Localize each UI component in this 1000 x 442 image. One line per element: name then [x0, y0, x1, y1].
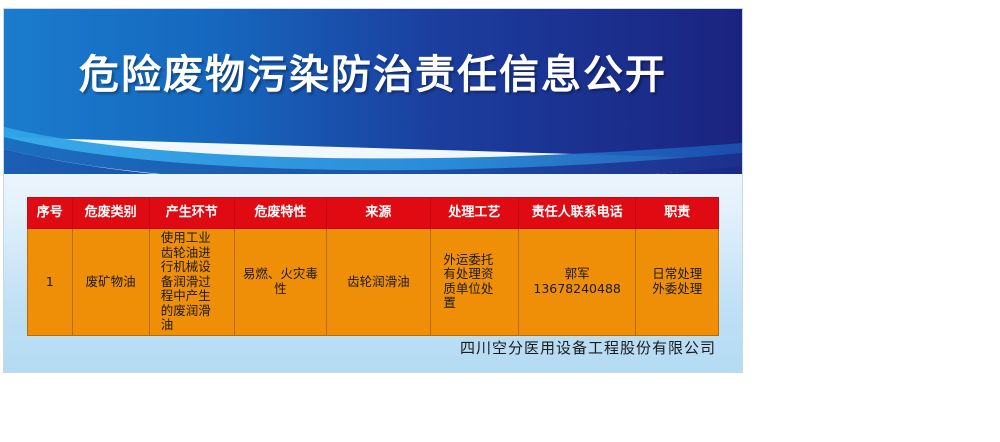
- cell-process-text: 外运委托有处理资质单位处置: [443, 253, 505, 311]
- column-header-contact: 责任人联系电话: [518, 198, 636, 229]
- column-header-process: 处理工艺: [430, 198, 518, 229]
- column-header-property: 危废特性: [234, 198, 326, 229]
- duty-line-2: 外委处理: [639, 282, 715, 297]
- cell-source: 齿轮润滑油: [326, 229, 430, 336]
- contact-person-name: 郭军: [522, 267, 633, 282]
- column-header-stage: 产生环节: [149, 198, 234, 229]
- cell-stage-text: 使用工业齿轮油进行机械设备润滑过程中产生的废润滑油: [161, 231, 223, 333]
- cell-duty: 日常处理 外委处理: [636, 229, 719, 336]
- cell-index: 1: [28, 229, 73, 336]
- company-name-footer: 四川空分医用设备工程股份有限公司: [4, 337, 716, 358]
- contact-person-phone: 13678240488: [522, 282, 633, 297]
- column-header-source: 来源: [326, 198, 430, 229]
- column-header-category: 危废类别: [72, 198, 149, 229]
- cell-stage: 使用工业齿轮油进行机械设备润滑过程中产生的废润滑油: [149, 229, 234, 336]
- information-disclosure-poster: 危险废物污染防治责任信息公开 序号 危废类别 产生环节 危废特性 来源 处理工艺…: [3, 8, 743, 373]
- duty-line-1: 日常处理: [639, 267, 715, 282]
- table-header-row: 序号 危废类别 产生环节 危废特性 来源 处理工艺 责任人联系电话 职责: [28, 198, 719, 229]
- column-header-index: 序号: [28, 198, 73, 229]
- cell-category: 废矿物油: [72, 229, 149, 336]
- poster-banner: 危险废物污染防治责任信息公开: [4, 9, 742, 174]
- cell-property: 易燃、火灾毒性: [234, 229, 326, 336]
- hazardous-waste-table: 序号 危废类别 产生环节 危废特性 来源 处理工艺 责任人联系电话 职责 1 废…: [27, 197, 719, 336]
- table-row: 1 废矿物油 使用工业齿轮油进行机械设备润滑过程中产生的废润滑油 易燃、火灾毒性…: [28, 229, 719, 336]
- column-header-duty: 职责: [636, 198, 719, 229]
- cell-process: 外运委托有处理资质单位处置: [430, 229, 518, 336]
- cell-contact: 郭军 13678240488: [518, 229, 636, 336]
- page-title: 危险废物污染防治责任信息公开: [4, 55, 742, 95]
